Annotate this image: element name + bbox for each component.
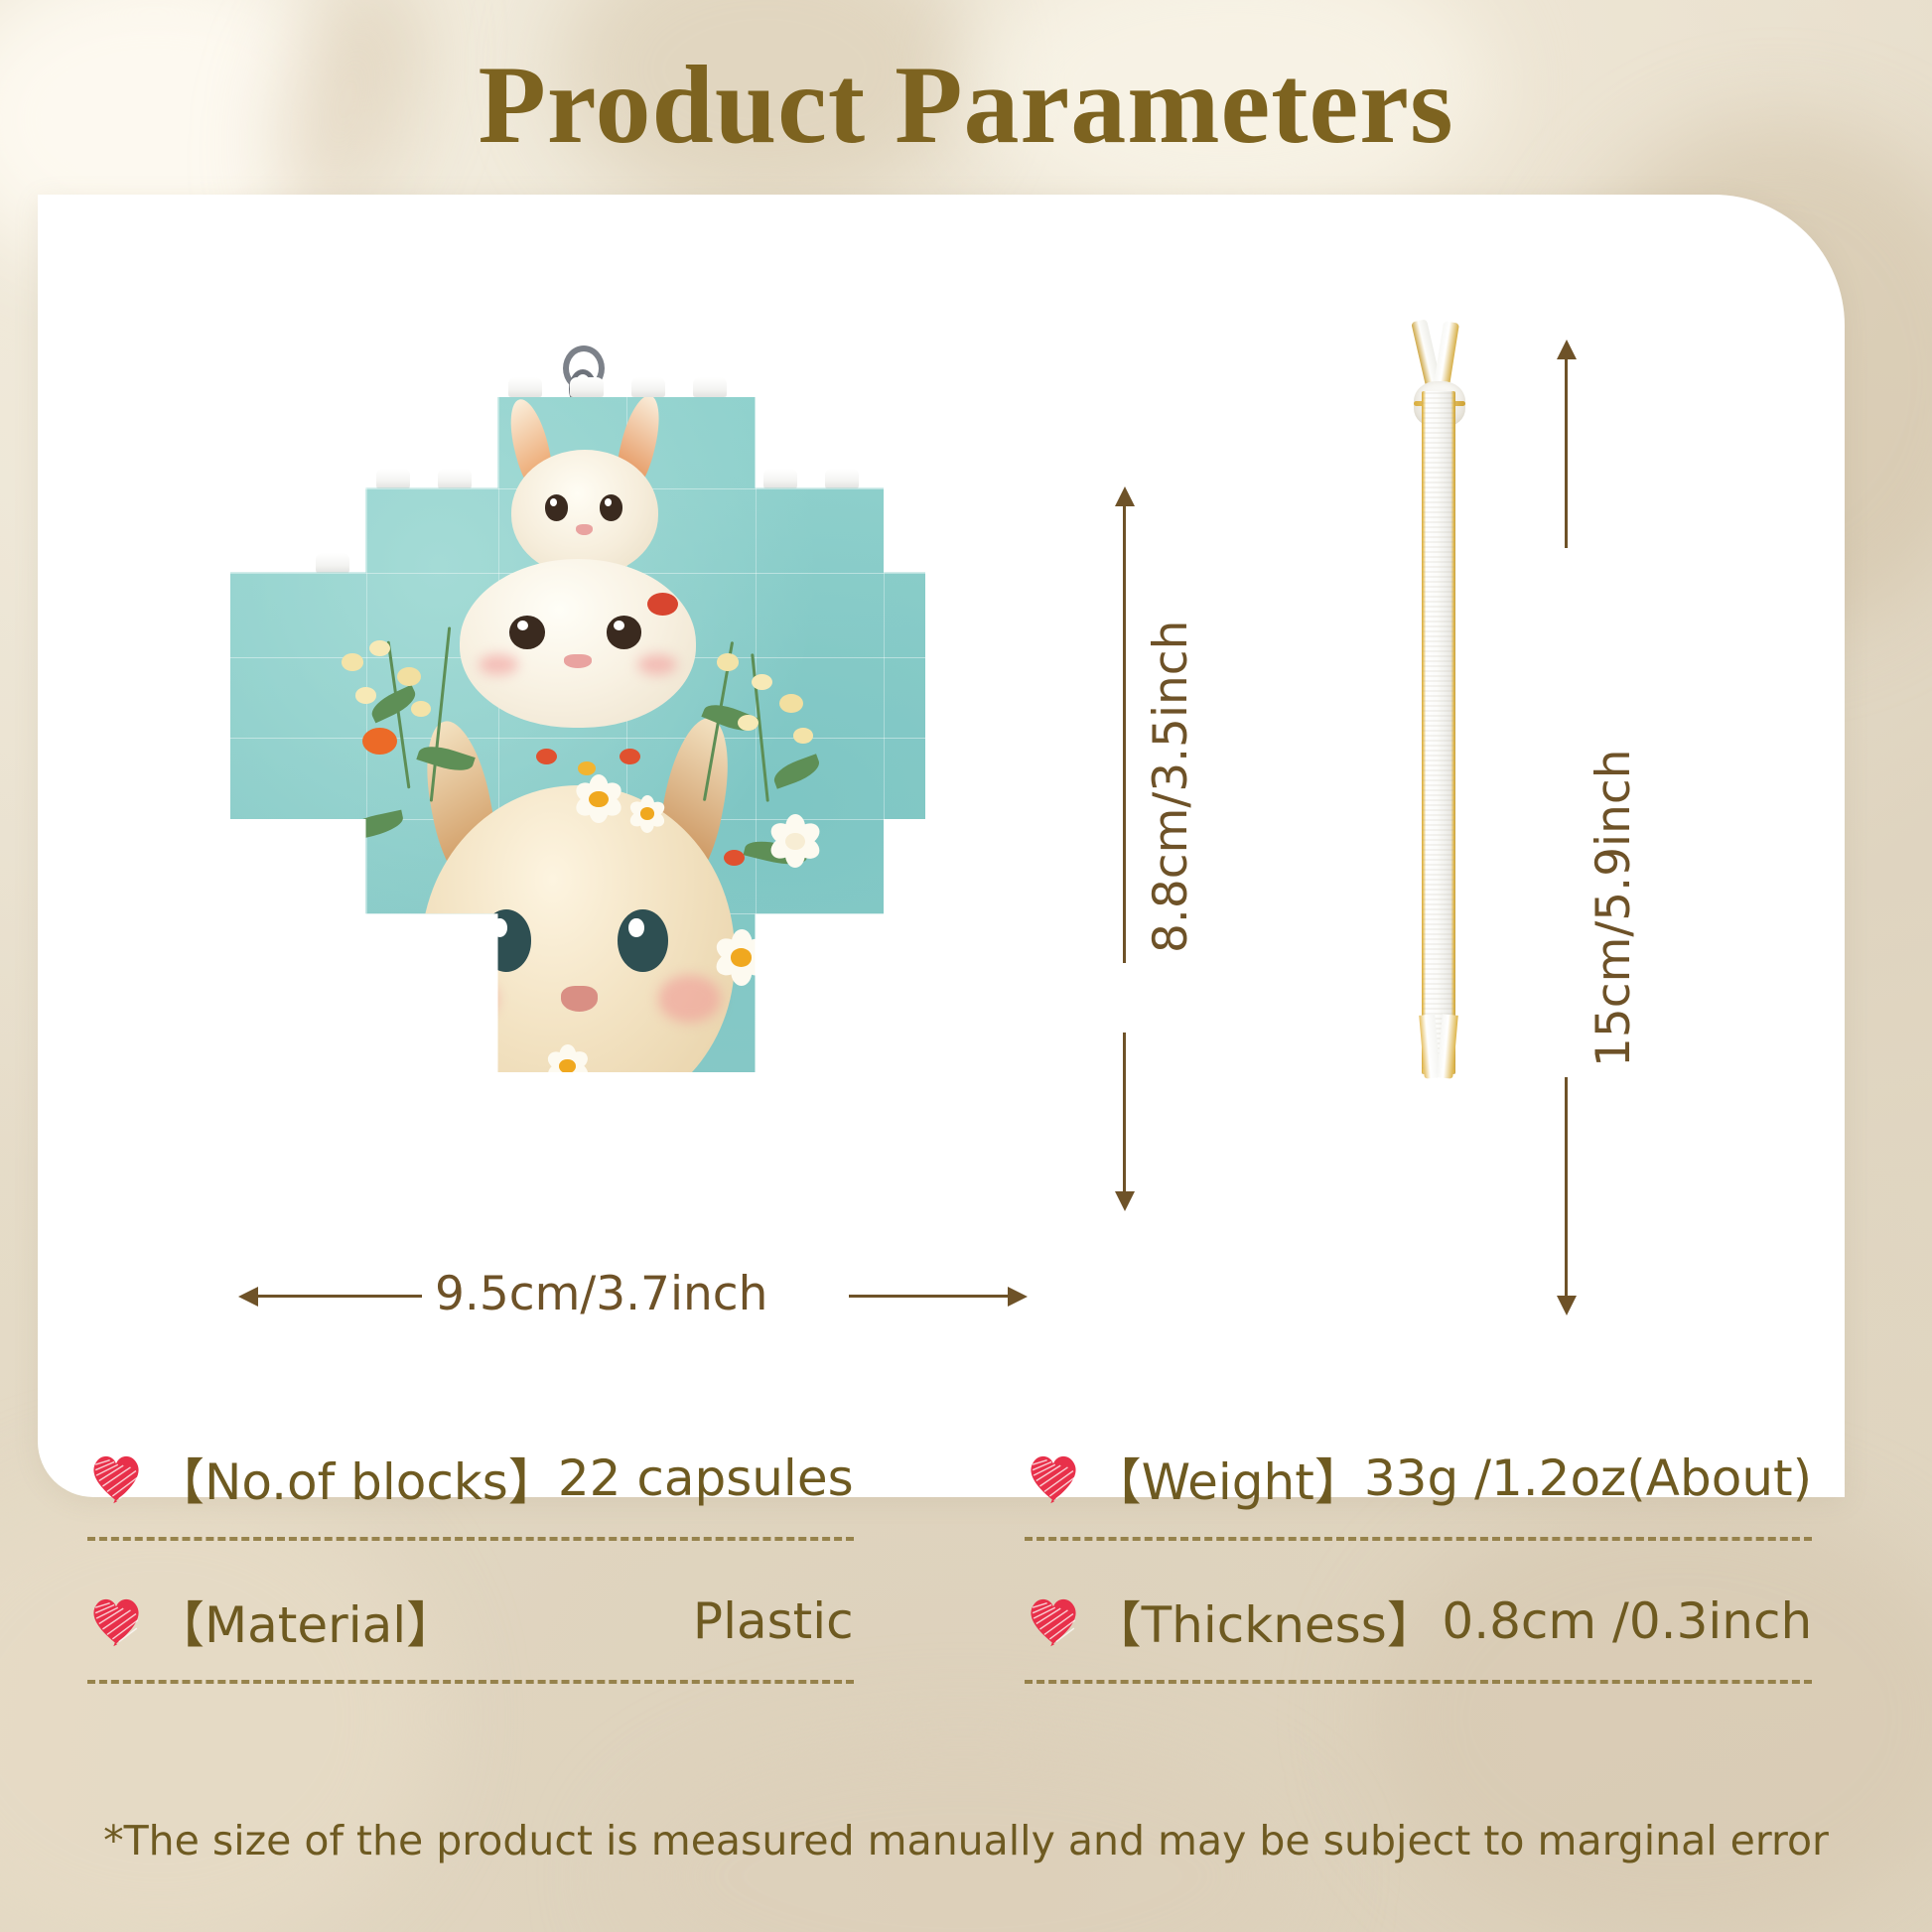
spec-value: 33g /1.2oz(About) [1364,1449,1812,1507]
spec-value: Plastic [693,1592,854,1650]
disclaimer-note: *The size of the product is measured man… [0,1817,1932,1864]
flower-dot [752,674,772,690]
flower-dot [620,749,640,764]
flower-dot [647,593,678,616]
spec-row: 【Weight】 33g /1.2oz(About) [975,1420,1863,1541]
flower-dot [411,701,431,717]
height-dimension-label: 8.8cm/3.5inch [1144,621,1198,953]
daisy-flower [710,930,772,984]
spec-row: 【Thickness】 0.8cm /0.3inch [975,1563,1863,1684]
page-title: Product Parameters [0,48,1932,165]
ribbon-dimension-label: 15cm/5.9inch [1587,750,1641,1068]
daisy-flower [765,816,825,868]
heart-icon [1025,1449,1082,1504]
flower-dot [724,850,745,866]
block-studs-row-1 [508,377,755,397]
heart-icon [87,1449,145,1504]
row-divider [1025,1680,1813,1684]
flower-dot [793,728,813,744]
heart-icon [1025,1591,1082,1647]
spec-label: 【Thickness】 [1092,1586,1437,1657]
ribbon-image [1398,320,1477,1074]
width-dimension-label: 9.5cm/3.7inch [435,1267,767,1321]
flower-dot [369,640,390,656]
flower-dot [536,749,557,764]
heart-icon [87,1591,145,1647]
flower-dot [397,667,421,686]
block-studs-row-2-left [376,469,499,488]
row-divider [87,1680,854,1684]
flower-dot [779,694,803,713]
daisy-flower [342,937,380,971]
daisy-flower [543,1045,592,1072]
spec-label: 【Weight】 [1092,1443,1364,1514]
daisy-flower [571,775,626,823]
flower-dot [738,715,759,731]
bunny-middle [460,552,696,728]
daisy-flower [404,1038,453,1072]
spec-row: 【Material】 Plastic [38,1563,903,1684]
flower-dot [355,687,376,703]
spec-label: 【No.of blocks】 [155,1443,558,1514]
product-artwork [230,397,925,1072]
block-studs-row-2-right [763,469,887,488]
spec-value: 22 capsules [558,1449,854,1507]
spec-value: 0.8cm /0.3inch [1442,1592,1812,1650]
spec-label: 【Material】 [155,1586,456,1657]
product-image [230,397,925,1072]
row-divider [87,1537,854,1541]
bunny-top [508,411,661,573]
daisy-flower [626,795,668,832]
spec-table: 【No.of blocks】 22 capsules 【Weight】 33g … [38,1420,1845,1684]
row-divider [1025,1537,1813,1541]
spec-row: 【No.of blocks】 22 capsules [38,1420,903,1541]
flower-dot [265,829,293,851]
